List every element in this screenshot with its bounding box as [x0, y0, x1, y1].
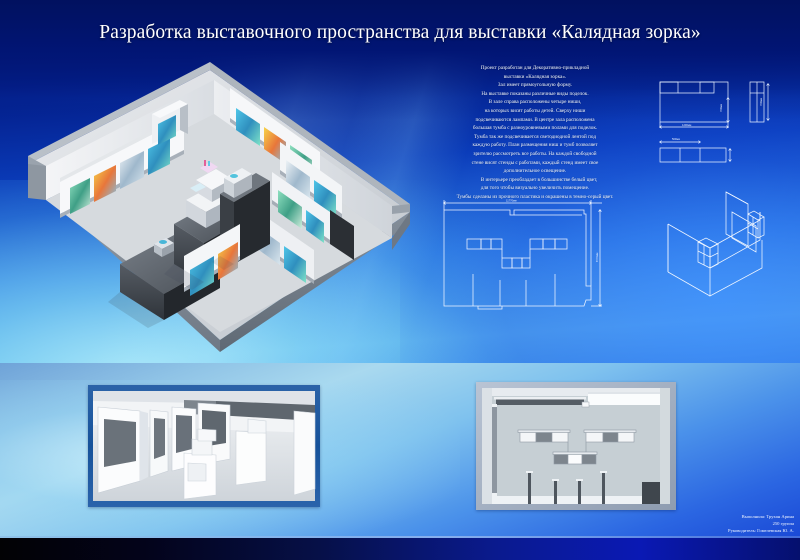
- cad-dim-front-height: 700мм: [719, 104, 723, 112]
- poster-canvas: Разработка выставочного пространства для…: [0, 0, 800, 560]
- desc-line: стене висят стенды с работами, каждый ст…: [415, 159, 655, 168]
- cad-dim-plan-total-height: 8770мм: [595, 252, 599, 262]
- desc-line: Проект разработан для Декоративно-прикла…: [415, 64, 655, 73]
- desc-line: каждую работу. План размещения ниш и тум…: [415, 141, 655, 150]
- cad-elevation-drawings: 1200мм 700мм 700мм 500мм: [658, 60, 800, 178]
- desc-line: В интерьере преобладает в большинстве бе…: [415, 176, 655, 185]
- desc-line: Тумба так же подсвечивается светодиодной…: [415, 133, 655, 142]
- desc-line: для того чтобы визуально увеличить помещ…: [415, 184, 655, 193]
- credits-group: 250 группа: [574, 520, 794, 527]
- desc-line: Зал имеет прямоугольную форму.: [415, 81, 655, 90]
- cad-isometric-wireframe: [652, 190, 800, 312]
- plan-view-render: [476, 382, 676, 510]
- desc-line: В зале справа расположены четыре ниши,: [415, 98, 655, 107]
- cad-dim-plan-width: 500мм: [672, 137, 680, 141]
- cad-floor-plan: 11770мм 8770мм: [434, 196, 630, 318]
- page-title: Разработка выставочного пространства для…: [0, 22, 800, 44]
- project-description: Проект разработан для Декоративно-прикла…: [415, 64, 655, 202]
- cad-dim-plan-total-width: 11770мм: [506, 199, 517, 203]
- desc-line: выставки «Калядная зорка».: [415, 73, 655, 82]
- credits-supervisor: Руководитель: Гомелевская Ю. А.: [574, 527, 794, 534]
- desc-line: подсвечиваются лампами. В центре зала ра…: [415, 116, 655, 125]
- desc-line: большая тумба с разноуровневыми полами д…: [415, 124, 655, 133]
- desc-line: дополнительное освещение.: [415, 167, 655, 176]
- bottom-strip: [0, 538, 800, 560]
- cad-dim-side-height: 700мм: [759, 98, 763, 106]
- cad-dim-front-width: 1200мм: [682, 123, 692, 127]
- interior-perspective-render: [88, 385, 320, 507]
- desc-line: На выставке показаны различные виды поде…: [415, 90, 655, 99]
- credits-block: Выполнила: Трухан Арина 250 группа Руков…: [574, 513, 794, 534]
- credits-author: Выполнила: Трухан Арина: [574, 513, 794, 520]
- main-3d-room-render: [24, 52, 414, 352]
- desc-line: на которых висят работы детей. Сверху ни…: [415, 107, 655, 116]
- desc-line: зрителю рассмотреть все работы. На каждо…: [415, 150, 655, 159]
